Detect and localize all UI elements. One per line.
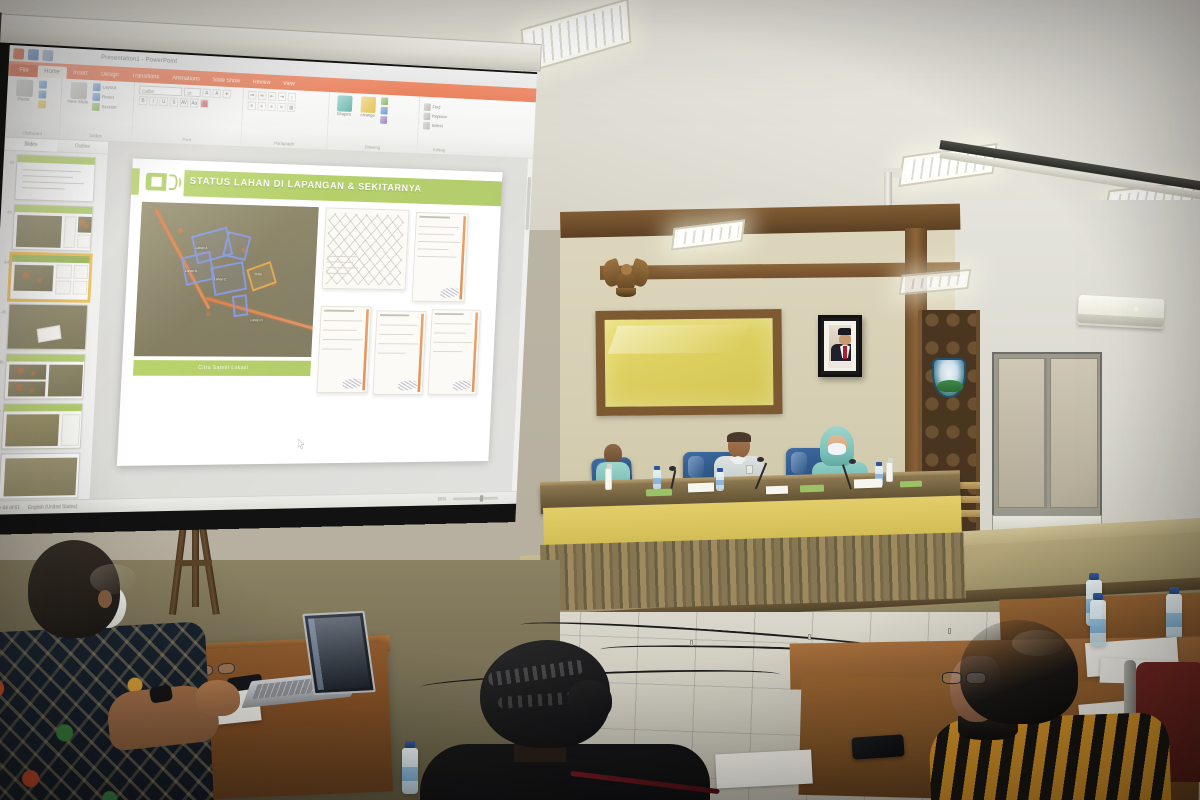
powerpoint-icon bbox=[13, 48, 24, 60]
shapes-button[interactable]: Shapes bbox=[333, 95, 355, 118]
thumbnail-item[interactable]: 47 bbox=[0, 403, 93, 449]
green-folder bbox=[800, 485, 824, 493]
blind-rod bbox=[1044, 358, 1047, 508]
papers bbox=[854, 479, 882, 489]
zoom-slider[interactable] bbox=[453, 497, 498, 501]
parcel-label: Lahan C bbox=[214, 277, 227, 281]
participant-left bbox=[0, 520, 280, 800]
thumbnail-item[interactable]: 46 bbox=[0, 353, 95, 399]
bullets-icon[interactable]: ≔ bbox=[248, 91, 257, 100]
microphone-icon bbox=[849, 459, 856, 464]
participant-right bbox=[930, 620, 1190, 800]
undo-icon[interactable] bbox=[42, 49, 53, 60]
powerpoint-window: Presentation1 - PowerPoint File Home Ins… bbox=[0, 45, 537, 515]
projection-screen: Presentation1 - PowerPoint File Home Ins… bbox=[0, 46, 532, 527]
save-icon[interactable] bbox=[28, 48, 39, 59]
font-size-field[interactable]: 18 bbox=[184, 88, 201, 98]
shape-outline-button[interactable] bbox=[380, 107, 387, 115]
character-spacing-button[interactable]: AV bbox=[180, 98, 189, 107]
slide-editing-area[interactable]: STATUS LAHAN DI LAPANGAN & SEKITARNYA La… bbox=[90, 142, 533, 499]
company-logo-icon bbox=[138, 163, 185, 201]
certificate-map-doc bbox=[322, 207, 410, 290]
slide-thumbnail[interactable] bbox=[4, 354, 86, 400]
shapes-icon bbox=[336, 95, 352, 112]
portrait-caption bbox=[828, 362, 852, 368]
reset-icon bbox=[92, 93, 100, 101]
air-conditioner-icon bbox=[1077, 295, 1164, 329]
certificate-doc bbox=[373, 310, 427, 395]
paste-icon bbox=[15, 79, 32, 97]
ribbon-group-slides: New Slide Layout Reset bbox=[59, 79, 135, 142]
blind-panel-left bbox=[998, 358, 1046, 508]
replace-button[interactable]: Replace bbox=[423, 113, 457, 122]
increase-indent-icon[interactable]: ⇥ bbox=[278, 92, 287, 101]
hand-sanitizer bbox=[886, 462, 893, 482]
parcel-label: Lahan B bbox=[185, 269, 198, 273]
underline-button[interactable]: U bbox=[159, 97, 168, 106]
official-portrait-frame bbox=[818, 315, 862, 377]
water-bottle bbox=[716, 472, 724, 491]
bold-button[interactable]: B bbox=[139, 96, 148, 105]
name-badge bbox=[746, 465, 753, 474]
current-slide[interactable]: STATUS LAHAN DI LAPANGAN & SEKITARNYA La… bbox=[117, 158, 503, 466]
arrange-button[interactable]: Arrange bbox=[357, 96, 379, 119]
garuda-emblem-icon bbox=[603, 258, 649, 298]
board-glare bbox=[608, 324, 748, 353]
land-certificate-documents bbox=[315, 207, 491, 425]
slide-thumbnail[interactable] bbox=[0, 453, 80, 500]
ribbon-group-drawing: Shapes Arrange bbox=[327, 92, 420, 153]
laptop-screen bbox=[302, 611, 376, 695]
microphone-icon bbox=[669, 466, 676, 471]
copy-button[interactable] bbox=[38, 90, 46, 98]
slide-indicator: Slide 44 of 61 bbox=[0, 505, 20, 512]
scissors-icon bbox=[39, 80, 47, 88]
ribbon-group-paragraph: ≔ ≕ ⇤ ⇥ ↕ ≡ ≡ ≡ ≡ ▥ Par bbox=[241, 88, 330, 150]
cut-button[interactable] bbox=[39, 80, 47, 88]
head bbox=[28, 540, 120, 638]
slide-thumbnail[interactable] bbox=[14, 154, 96, 202]
decrease-indent-icon[interactable]: ⇤ bbox=[268, 92, 277, 101]
section-button[interactable]: Section bbox=[92, 103, 117, 112]
copy-icon bbox=[38, 90, 46, 98]
headwrap-knot bbox=[568, 680, 612, 720]
parcel-label: Lahan A bbox=[195, 246, 207, 250]
garuda-tail bbox=[616, 288, 636, 297]
land-parcel-polygon-highlight bbox=[246, 261, 277, 291]
hand-sanitizer bbox=[605, 468, 612, 490]
format-painter-button[interactable] bbox=[38, 100, 46, 108]
shape-fill-icon bbox=[381, 97, 388, 105]
replace-icon bbox=[423, 113, 430, 121]
road-line bbox=[205, 297, 318, 331]
parcel-label-highlight: SHM bbox=[254, 272, 261, 276]
ribbon-group-editing: Find Replace Select Editing bbox=[417, 97, 462, 155]
new-slide-icon bbox=[70, 82, 87, 100]
yellow-announcement-board bbox=[595, 309, 782, 416]
participant-center bbox=[430, 640, 730, 800]
slide-thumbnail[interactable] bbox=[1, 403, 83, 449]
new-slide-button[interactable]: New Slide bbox=[66, 82, 90, 106]
thumbnail-list: 42 43 bbox=[0, 151, 108, 501]
green-folder bbox=[646, 489, 672, 497]
font-name-field[interactable]: Calibri bbox=[139, 85, 182, 96]
align-center-icon[interactable]: ≡ bbox=[257, 102, 266, 111]
laptop-display-content bbox=[308, 616, 370, 690]
ac-indicator-light bbox=[1134, 307, 1138, 311]
face-mask bbox=[828, 443, 846, 455]
panel-tab-outline[interactable]: Outline bbox=[56, 140, 108, 154]
slide-thumbnail[interactable] bbox=[12, 204, 94, 252]
italic-button[interactable]: I bbox=[149, 97, 158, 106]
search-icon bbox=[424, 103, 431, 111]
thumbnail-item[interactable]: 48 bbox=[0, 453, 90, 500]
aerial-caption: Citra Satelit Lokasi bbox=[133, 360, 311, 376]
hand bbox=[196, 680, 240, 716]
layout-icon bbox=[93, 83, 101, 91]
layout-button[interactable]: Layout bbox=[93, 83, 118, 92]
group-label-clipboard: Clipboard bbox=[5, 131, 59, 138]
ribbon-group-font: Calibri 18 A A ✦ B I U S AV Aa bbox=[132, 82, 244, 146]
justify-icon[interactable]: ≡ bbox=[277, 103, 286, 112]
reset-button[interactable]: Reset bbox=[92, 93, 117, 102]
numbering-icon[interactable]: ≕ bbox=[258, 91, 267, 100]
shape-outline-icon bbox=[380, 107, 387, 115]
ear bbox=[98, 590, 112, 608]
certificate-doc bbox=[412, 212, 469, 302]
section-icon bbox=[92, 103, 100, 111]
blind-panel-right bbox=[1050, 358, 1098, 508]
smartphone[interactable] bbox=[851, 734, 904, 760]
slide-scrollbar[interactable] bbox=[512, 159, 533, 491]
crest-detail bbox=[937, 380, 963, 392]
panel-tab-slides[interactable]: Slides bbox=[4, 138, 57, 152]
zoom-level: 66% bbox=[438, 496, 447, 502]
clear-formatting-icon[interactable]: ✦ bbox=[223, 90, 232, 99]
change-case-button[interactable]: Aa bbox=[190, 99, 199, 108]
slide-thumbnail[interactable] bbox=[6, 304, 88, 350]
meeting-room-photo: Presentation1 - PowerPoint File Home Ins… bbox=[0, 0, 1200, 800]
shape-fill-button[interactable] bbox=[381, 97, 388, 105]
window-title: Presentation1 - PowerPoint bbox=[101, 55, 177, 65]
thumbnail-item-selected[interactable]: 44 bbox=[0, 253, 100, 300]
green-folder bbox=[900, 481, 922, 488]
portrait-mat bbox=[824, 321, 856, 371]
zoom-slider-knob[interactable] bbox=[480, 495, 484, 502]
parcel-label: Lahan D bbox=[250, 318, 262, 322]
strikethrough-button[interactable]: S bbox=[169, 98, 178, 107]
arrange-icon bbox=[360, 96, 376, 113]
paste-button[interactable]: Paste bbox=[12, 79, 37, 103]
shape-effects-button[interactable] bbox=[380, 116, 387, 124]
increase-font-icon[interactable]: A bbox=[202, 89, 211, 98]
table-skirt-pleats bbox=[540, 532, 966, 611]
window-blinds bbox=[992, 352, 1102, 517]
columns-icon[interactable]: ▥ bbox=[287, 103, 295, 112]
mouse-cursor-icon bbox=[298, 439, 306, 449]
find-button[interactable]: Find bbox=[424, 103, 458, 112]
align-right-icon[interactable]: ≡ bbox=[267, 102, 276, 111]
papers bbox=[688, 483, 714, 493]
screen-border: Presentation1 - PowerPoint File Home Ins… bbox=[0, 42, 537, 535]
language-indicator: English (United States) bbox=[28, 504, 78, 511]
eyeglasses-icon bbox=[942, 672, 986, 685]
cable-clip bbox=[808, 634, 811, 640]
water-bottle bbox=[402, 748, 418, 794]
portrait-photo bbox=[829, 325, 851, 361]
thumbnail-item[interactable]: 42 bbox=[4, 154, 106, 203]
ribbon-group-clipboard: Paste Clipboard bbox=[5, 76, 63, 139]
certificate-doc bbox=[428, 309, 481, 395]
slide-thumbnail-current[interactable] bbox=[9, 254, 91, 301]
decrease-font-icon[interactable]: A bbox=[212, 89, 221, 98]
format-painter-icon bbox=[38, 100, 46, 108]
font-color-button[interactable]: A bbox=[200, 99, 209, 108]
thumbnail-item[interactable]: 45 bbox=[0, 303, 98, 350]
aerial-map-image: Lahan A Lahan B Lahan C Lahan D SHM bbox=[134, 202, 319, 357]
ac-vent bbox=[1077, 314, 1163, 327]
water-bottle bbox=[653, 470, 661, 490]
line-spacing-icon[interactable]: ↕ bbox=[288, 93, 296, 102]
shape-effects-icon bbox=[380, 116, 387, 124]
group-label-editing: Editing bbox=[417, 148, 460, 154]
align-left-icon[interactable]: ≡ bbox=[247, 101, 256, 110]
garuda-head bbox=[621, 264, 632, 275]
select-button[interactable]: Select bbox=[423, 122, 457, 131]
land-parcel-polygon bbox=[222, 231, 251, 261]
thumbnail-item[interactable]: 43 bbox=[1, 204, 103, 252]
land-parcel-polygon bbox=[232, 294, 248, 317]
select-icon bbox=[423, 122, 430, 130]
microphone-icon bbox=[757, 457, 764, 462]
certificate-doc bbox=[316, 306, 371, 393]
papers bbox=[766, 486, 788, 495]
